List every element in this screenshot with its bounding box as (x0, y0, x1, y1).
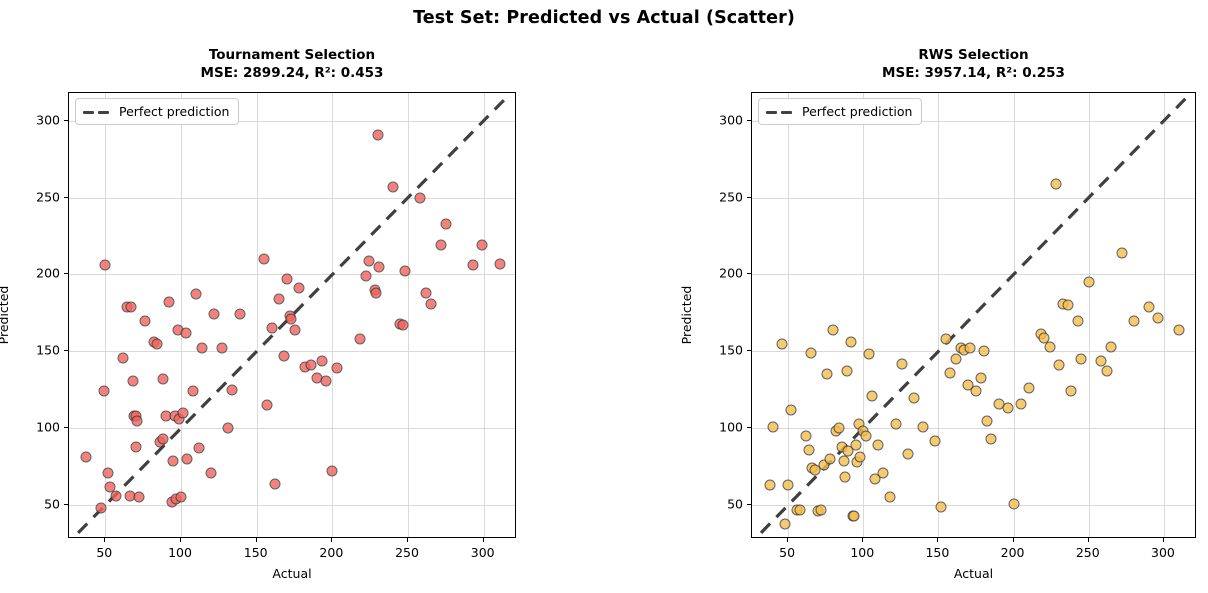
scatter-point (945, 367, 956, 378)
scatter-point (1076, 354, 1087, 365)
scatter-point (846, 337, 857, 348)
scatter-point (981, 415, 992, 426)
scatter-point (1143, 301, 1154, 312)
x-tick-label: 200 (1001, 545, 1025, 560)
x-gridline (788, 93, 789, 537)
scatter-point (1106, 341, 1117, 352)
scatter-point (891, 418, 902, 429)
scatter-point (1016, 398, 1027, 409)
scatter-point (918, 421, 929, 432)
scatter-point (940, 334, 951, 345)
scatter-point (975, 372, 986, 383)
scatter-point (1053, 360, 1064, 371)
scatter-point (1152, 312, 1163, 323)
x-tick-label: 50 (779, 545, 795, 560)
subplot-title-line: RWS Selection (691, 46, 1208, 64)
scatter-point (780, 518, 791, 529)
scatter-point (1044, 341, 1055, 352)
plot-area-right (751, 92, 1196, 538)
x-tick (937, 538, 938, 542)
x-tick (787, 538, 788, 542)
scatter-point (1128, 315, 1139, 326)
scatter-point (1173, 324, 1184, 335)
scatter-point (795, 504, 806, 515)
y-tick (747, 273, 751, 274)
scatter-point (885, 492, 896, 503)
scatter-point (964, 343, 975, 354)
y-tick (747, 350, 751, 351)
scatter-point (930, 435, 941, 446)
scatter-point (1065, 386, 1076, 397)
y-axis-label: Predicted (679, 286, 694, 345)
scatter-point (1101, 366, 1112, 377)
scatter-point (786, 404, 797, 415)
y-tick-label: 150 (705, 343, 743, 358)
y-gridline (752, 198, 1195, 199)
subplot-metrics-line: MSE: 3957.14, R²: 0.253 (691, 64, 1208, 82)
scatter-point (849, 510, 860, 521)
scatter-point (909, 392, 920, 403)
scatter-point (816, 504, 827, 515)
y-gridline (752, 428, 1195, 429)
x-tick-label: 100 (850, 545, 874, 560)
x-tick-label: 300 (1151, 545, 1175, 560)
x-gridline (1164, 93, 1165, 537)
y-tick-label: 300 (705, 112, 743, 127)
x-tick (1088, 538, 1089, 542)
figure-canvas: Test Set: Predicted vs Actual (Scatter) … (0, 0, 1208, 593)
x-gridline (938, 93, 939, 537)
scatter-point (867, 390, 878, 401)
scatter-point (841, 366, 852, 377)
legend-right[interactable]: Perfect prediction (758, 98, 922, 125)
x-tick (1163, 538, 1164, 542)
y-tick-label: 200 (705, 266, 743, 281)
scatter-point (971, 386, 982, 397)
scatter-point (864, 349, 875, 360)
y-gridline (752, 274, 1195, 275)
scatter-point (801, 430, 812, 441)
scatter-point (828, 324, 839, 335)
scatter-point (834, 423, 845, 434)
scatter-point (768, 421, 779, 432)
y-tick-label: 250 (705, 189, 743, 204)
y-tick-label: 100 (705, 420, 743, 435)
scatter-point (850, 440, 861, 451)
y-tick (747, 427, 751, 428)
x-gridline (863, 93, 864, 537)
scatter-point (903, 449, 914, 460)
x-tick (1013, 538, 1014, 542)
legend-label: Perfect prediction (802, 104, 912, 119)
scatter-point (986, 434, 997, 445)
scatter-point (877, 467, 888, 478)
scatter-point (1095, 355, 1106, 366)
scatter-point (804, 444, 815, 455)
scatter-point (951, 354, 962, 365)
scatter-point (1062, 300, 1073, 311)
scatter-point (855, 452, 866, 463)
scatter-point (822, 369, 833, 380)
scatter-point (1116, 247, 1127, 258)
scatter-point (1002, 403, 1013, 414)
x-axis-label: Actual (954, 566, 993, 581)
scatter-point (825, 454, 836, 465)
scatter-point (1073, 315, 1084, 326)
y-tick (747, 504, 751, 505)
scatter-point (1023, 383, 1034, 394)
x-tick-label: 250 (1076, 545, 1100, 560)
y-tick (747, 197, 751, 198)
subplot-right: RWS SelectionMSE: 3957.14, R²: 0.2535010… (0, 0, 1208, 593)
x-tick (862, 538, 863, 542)
scatter-point (840, 472, 851, 483)
scatter-point (777, 338, 788, 349)
y-tick (747, 120, 751, 121)
subplot-title-right: RWS SelectionMSE: 3957.14, R²: 0.253 (691, 46, 1208, 82)
scatter-point (897, 358, 908, 369)
scatter-point (1008, 498, 1019, 509)
y-tick-label: 50 (705, 497, 743, 512)
scatter-point (1083, 277, 1094, 288)
scatter-point (1050, 178, 1061, 189)
x-gridline (1014, 93, 1015, 537)
scatter-point (936, 501, 947, 512)
x-gridline (1089, 93, 1090, 537)
scatter-point (861, 430, 872, 441)
scatter-point (978, 346, 989, 357)
scatter-point (783, 480, 794, 491)
legend-dashed-line-icon (766, 106, 794, 118)
scatter-point (765, 480, 776, 491)
scatter-point (873, 440, 884, 451)
x-tick-label: 150 (925, 545, 949, 560)
scatter-point (805, 347, 816, 358)
